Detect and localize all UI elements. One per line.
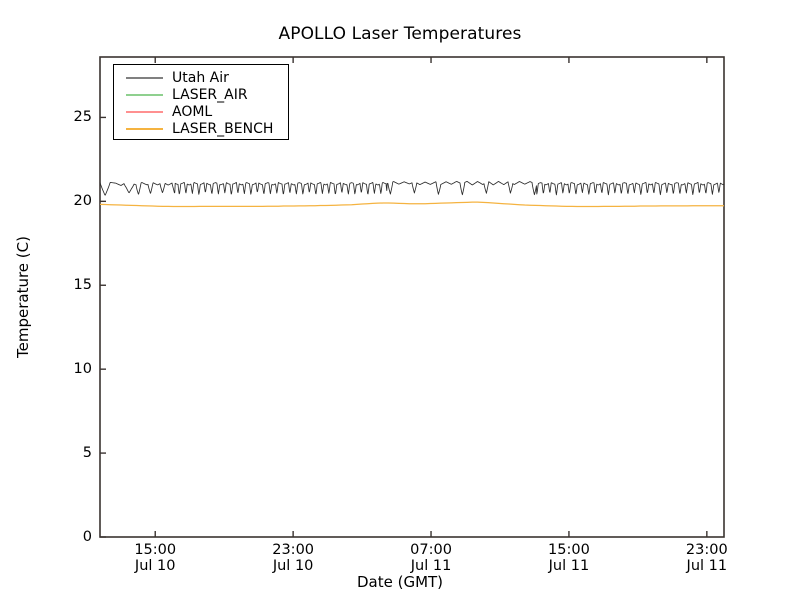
legend-label: LASER_AIR [172, 87, 248, 103]
legend-color-swatch [126, 94, 163, 96]
x-tick-label: 23:00 Jul 10 [272, 542, 314, 574]
x-tick-label: 23:00 Jul 11 [686, 542, 728, 574]
figure-canvas: APOLLO Laser Temperatures 0510152025 15:… [0, 0, 800, 600]
y-tick-label: 0 [58, 529, 92, 545]
y-tick-label: 5 [58, 445, 92, 461]
y-tick-label: 15 [58, 277, 92, 293]
legend-label: Utah Air [172, 70, 229, 86]
legend-label: LASER_BENCH [172, 121, 273, 137]
legend-item[interactable]: LASER_AIR [126, 86, 283, 103]
legend-label: AOML [172, 104, 212, 120]
y-tick-label: 10 [58, 361, 92, 377]
legend-color-swatch [126, 77, 163, 79]
x-tick-label: 15:00 Jul 10 [134, 542, 176, 574]
x-tick-label: 15:00 Jul 11 [548, 542, 590, 574]
legend-item[interactable]: AOML [126, 103, 283, 120]
chart-legend: Utah AirLASER_AIRAOMLLASER_BENCH [113, 64, 289, 140]
x-axis-label: Date (GMT) [0, 573, 800, 591]
x-tick-label: 07:00 Jul 11 [410, 542, 452, 574]
legend-item[interactable]: Utah Air [126, 69, 283, 86]
y-axis-label: Temperature (C) [14, 236, 32, 358]
y-tick-label: 25 [58, 109, 92, 125]
legend-color-swatch [126, 128, 163, 130]
y-tick-label: 20 [58, 193, 92, 209]
legend-item[interactable]: LASER_BENCH [126, 120, 283, 137]
legend-color-swatch [126, 111, 163, 113]
